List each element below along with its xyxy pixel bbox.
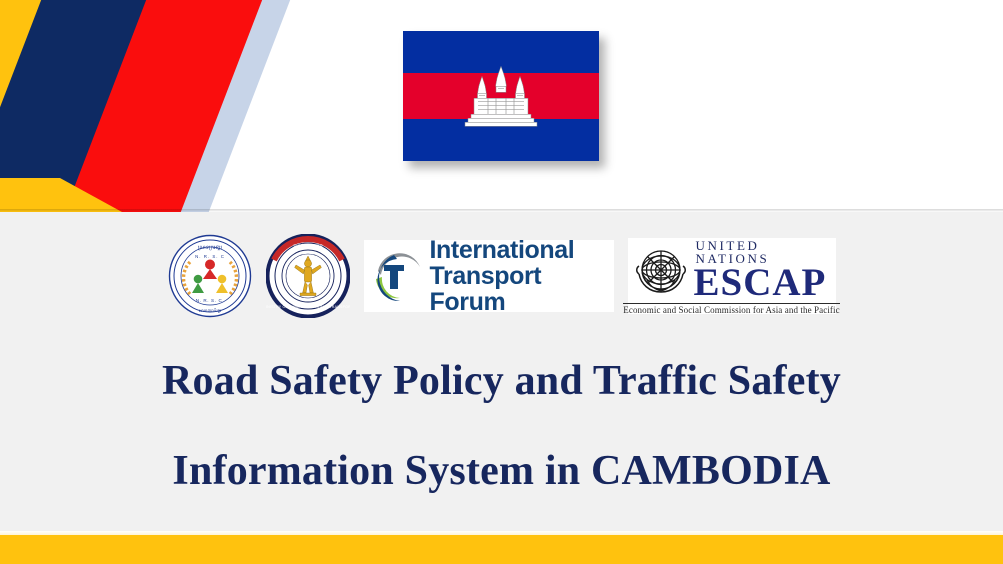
- itf-logo: International Transport Forum: [364, 240, 614, 312]
- footer-bar: [0, 535, 1003, 564]
- escap-top-row: UNITED NATIONS ESCAP: [633, 239, 831, 302]
- svg-text:N. R. S. C.: N. R. S. C.: [195, 298, 224, 303]
- angkor-wat-icon: [458, 64, 544, 130]
- flag-stripes: [403, 31, 599, 161]
- svg-text:MINISTRY OF PUBLIC WORKS AND T: MINISTRY OF PUBLIC WORKS AND TRANSPORT: [266, 305, 350, 309]
- svg-text:ណ្រទក្រអង្គរ: ណ្រទក្រអង្គរ: [197, 245, 222, 251]
- mpwt-seal-icon: ខ្រសូងសាររម្មការ MINISTRY OF PUBLIC WORK…: [266, 234, 350, 318]
- svg-text:N. R. S. C: N. R. S. C: [195, 254, 225, 259]
- escap-acronym-text: ESCAP: [694, 263, 831, 302]
- itf-wordmark: International Transport Forum: [430, 237, 608, 316]
- title-line-2: Information System in CAMBODIA: [0, 426, 1003, 516]
- escap-tagline: Economic and Social Commission for Asia …: [623, 303, 839, 315]
- mpwt-seal-logo: ខ្រសូងសាររម្មការ MINISTRY OF PUBLIC WORK…: [266, 234, 350, 318]
- escap-logo: UNITED NATIONS ESCAP Economic and Social…: [628, 238, 836, 314]
- itf-mark-icon: [370, 247, 428, 305]
- itf-line-1: International: [430, 237, 608, 263]
- un-emblem-icon: [633, 242, 689, 298]
- nrsc-seal-logo: ណ្រទក្រអង្គរ N. R. S. C N. R. S. C. សាមា…: [168, 234, 252, 318]
- cambodia-flag: [403, 31, 599, 161]
- partner-logos: ណ្រទក្រអង្គរ N. R. S. C N. R. S. C. សាមា…: [0, 231, 1003, 321]
- itf-line-2: Transport Forum: [430, 263, 608, 316]
- header-band-shadow: [0, 209, 1003, 212]
- flag-stripe-middle: [403, 73, 599, 119]
- title-line-1: Road Safety Policy and Traffic Safety: [0, 336, 1003, 426]
- nrsc-seal-icon: ណ្រទក្រអង្គរ N. R. S. C N. R. S. C. សាមា…: [168, 234, 252, 318]
- escap-wordmark: UNITED NATIONS ESCAP: [694, 239, 831, 302]
- slide-title: Road Safety Policy and Traffic Safety In…: [0, 336, 1003, 516]
- presentation-title-slide: ណ្រទក្រអង្គរ N. R. S. C N. R. S. C. សាមា…: [0, 0, 1003, 564]
- svg-text:សាមាពារាទិរង្គរ: សាមាពារាទិរង្គរ: [198, 308, 222, 313]
